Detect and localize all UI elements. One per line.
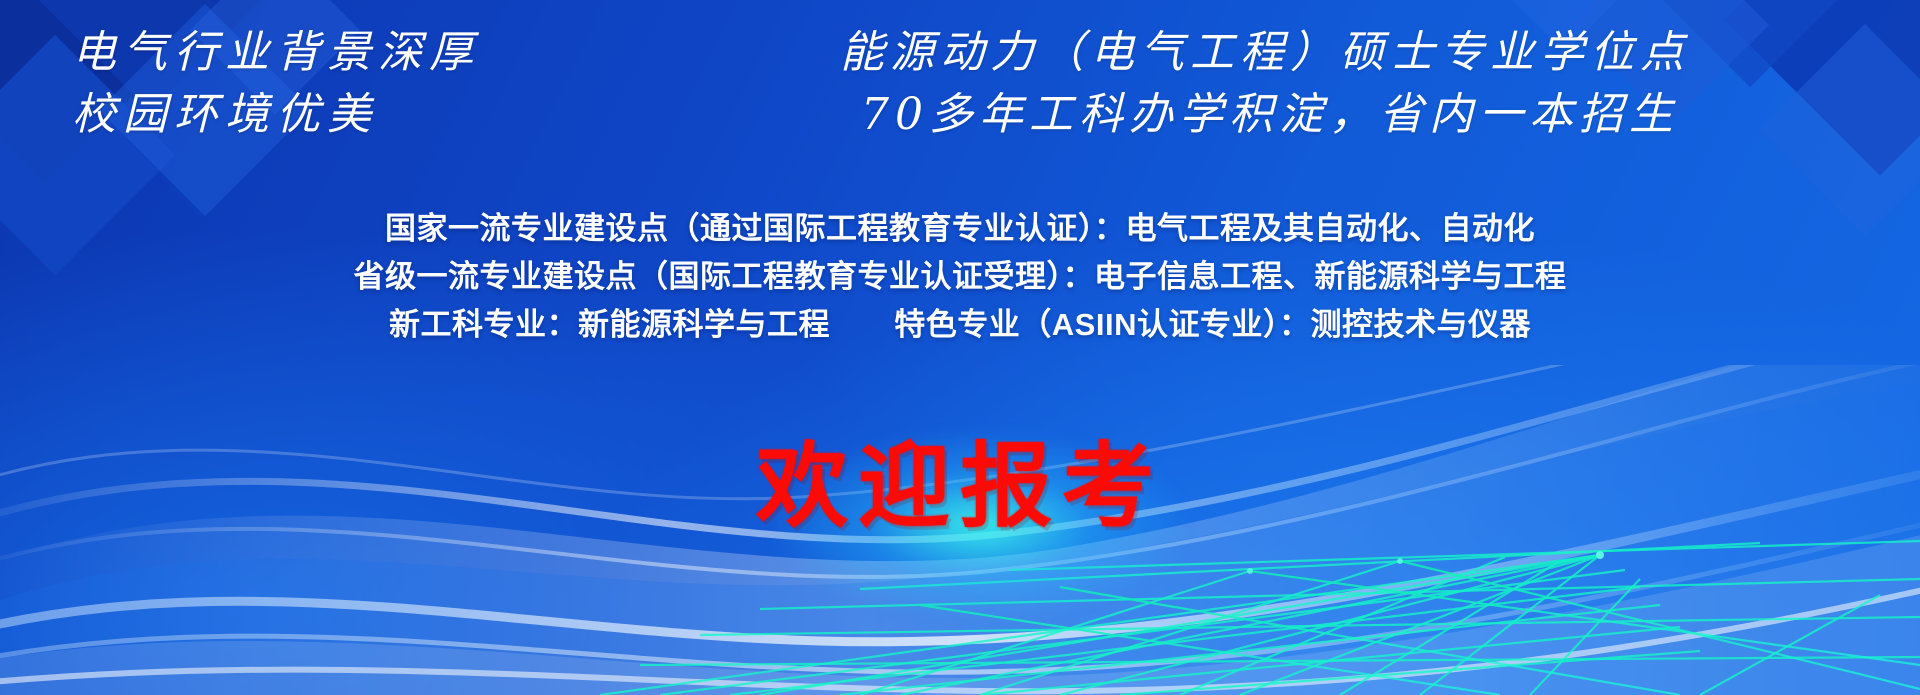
headline-block: 电气行业背景深厚 校园环境优美 能源动力（电气工程）硕士专业学位点 70多年工科… — [0, 14, 1920, 164]
program-info-block: 国家一流专业建设点（通过国际工程教育专业认证）：电气工程及其自动化、自动化 省级… — [0, 205, 1920, 349]
headline-left-line1: 电气行业背景深厚 — [72, 22, 632, 84]
headline-left: 电气行业背景深厚 校园环境优美 — [72, 22, 632, 146]
headline-right-line1: 能源动力（电气工程）硕士专业学位点 — [640, 22, 1890, 84]
program-line-emerging-b: 特色专业（ASIIN认证专业）：测控技术与仪器 — [894, 307, 1531, 342]
program-line-emerging: 新工科专业：新能源科学与工程 特色专业（ASIIN认证专业）：测控技术与仪器 — [0, 301, 1920, 349]
program-line-provincial: 省级一流专业建设点（国际工程教育专业认证受理）：电子信息工程、新能源科学与工程 — [0, 253, 1920, 301]
wave-ribbon — [0, 577, 1920, 691]
headline-left-line2: 校园环境优美 — [72, 84, 632, 146]
program-line-national: 国家一流专业建设点（通过国际工程教育专业认证）：电气工程及其自动化、自动化 — [0, 205, 1920, 253]
network-mesh — [600, 541, 1920, 695]
wave-fill — [0, 521, 1920, 695]
admission-banner: 电气行业背景深厚 校园环境优美 能源动力（电气工程）硕士专业学位点 70多年工科… — [0, 0, 1920, 695]
call-to-action-text: 欢迎报考 — [0, 412, 1920, 545]
headline-right: 能源动力（电气工程）硕士专业学位点 70多年工科办学积淀，省内一本招生 — [640, 22, 1890, 146]
network-node — [1247, 551, 1604, 574]
headline-right-line2: 70多年工科办学积淀，省内一本招生 — [640, 84, 1890, 146]
program-line-emerging-a: 新工科专业：新能源科学与工程 — [389, 307, 830, 342]
